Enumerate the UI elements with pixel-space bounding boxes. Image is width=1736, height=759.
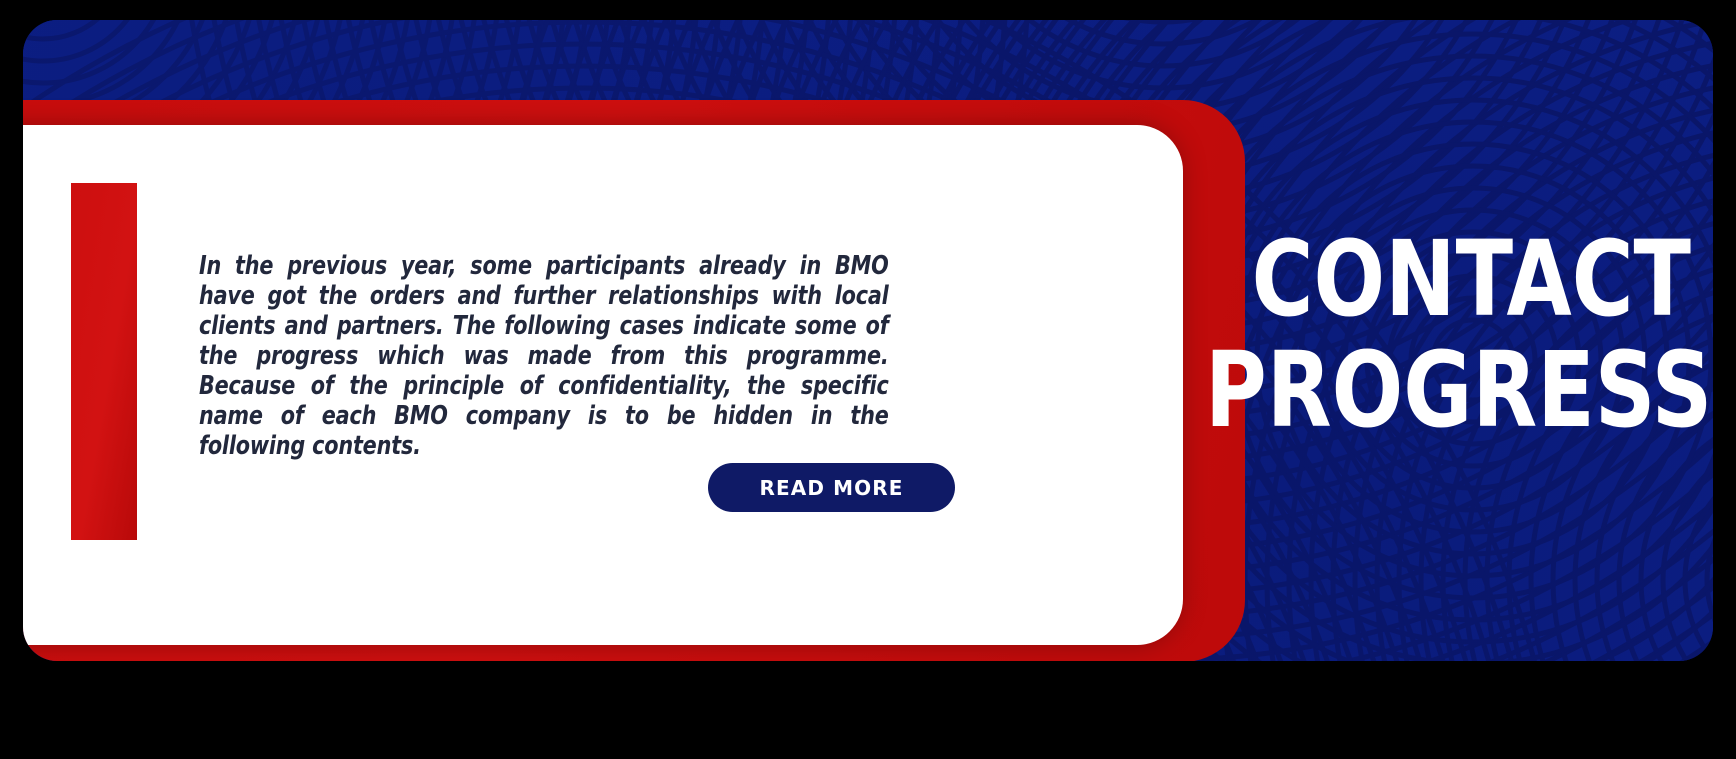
headline-block: CONTACT PROGRESS <box>1091 235 1691 436</box>
body-paragraph: In the previous year, some participants … <box>199 251 889 461</box>
headline-line-2: PROGRESS <box>1205 346 1691 435</box>
headline-line-1: CONTACT <box>1205 235 1691 324</box>
read-more-button[interactable]: READ MORE <box>708 463 955 512</box>
slide-root: In the previous year, some participants … <box>0 0 1736 759</box>
read-more-label: READ MORE <box>760 476 904 500</box>
red-accent-bar <box>71 183 137 540</box>
blue-background-panel: In the previous year, some participants … <box>23 20 1713 661</box>
